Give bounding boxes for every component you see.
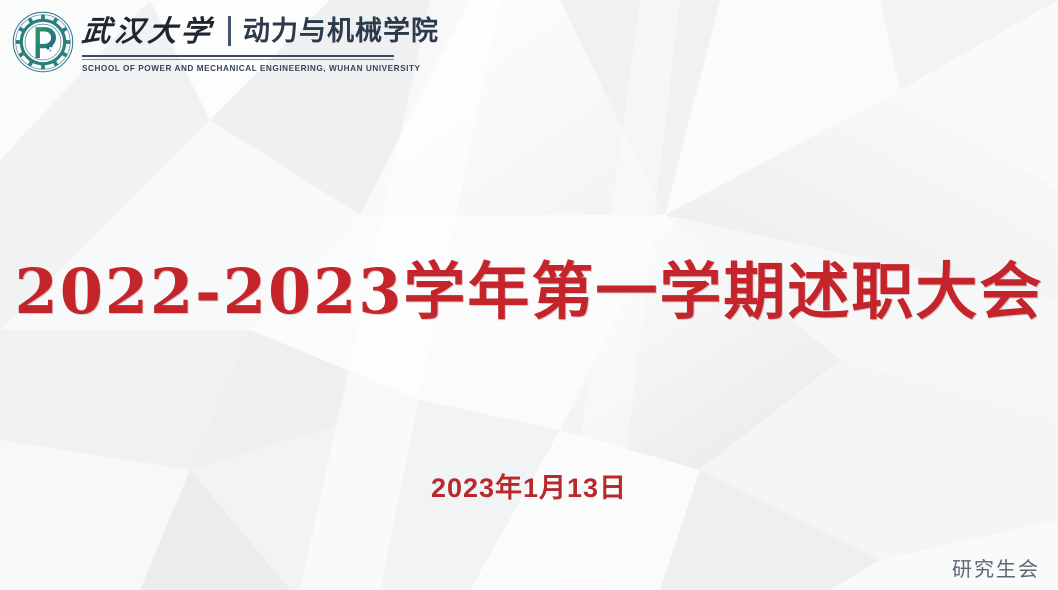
rule-thin bbox=[82, 59, 394, 60]
rule-thick bbox=[82, 55, 394, 57]
slide-title: 2022-2023学年第一学期述职大会 bbox=[0, 256, 1058, 327]
event-date: 2023年1月13日 bbox=[0, 466, 1058, 505]
university-name-cn: 武汉大学 bbox=[80, 17, 215, 46]
school-name-en: SCHOOL OF POWER AND MECHANICAL ENGINEERI… bbox=[82, 64, 439, 73]
wordmark-divider bbox=[228, 16, 231, 46]
college-name-cn: 动力与机械学院 bbox=[243, 18, 439, 45]
wordmark-rules bbox=[82, 55, 394, 60]
wordmark-row: 武汉大学 动力与机械学院 bbox=[82, 8, 439, 54]
wuhan-university-emblem-icon bbox=[12, 11, 74, 73]
wordmark: 武汉大学 动力与机械学院 SCHOOL OF POWER AND MECHANI… bbox=[82, 8, 439, 73]
title-slide: 武汉大学 动力与机械学院 SCHOOL OF POWER AND MECHANI… bbox=[0, 0, 1058, 590]
organizer-credit: 研究生会 bbox=[952, 553, 1040, 582]
institution-logo-lockup: 武汉大学 动力与机械学院 SCHOOL OF POWER AND MECHANI… bbox=[12, 8, 439, 88]
